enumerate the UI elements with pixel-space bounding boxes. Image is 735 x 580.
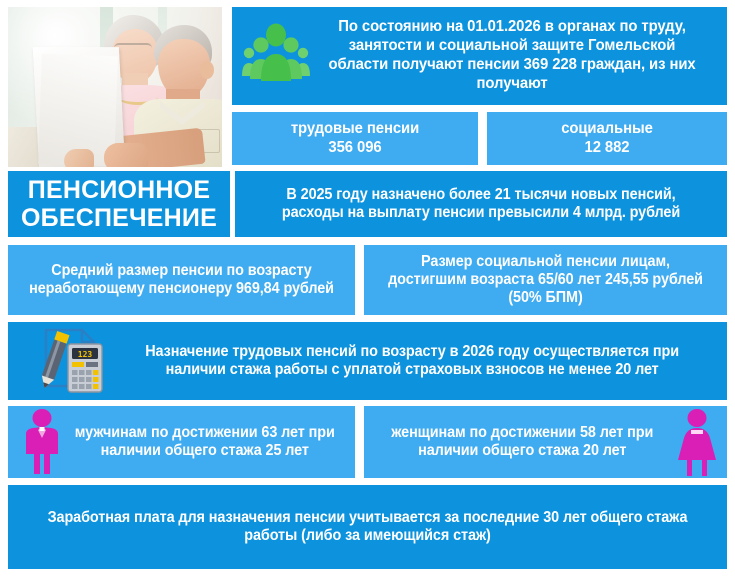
infographic-root: По состоянию на 01.01.2026 в органах по … — [0, 0, 735, 580]
footer-box: Заработная плата для назначения пенсии у… — [8, 485, 727, 569]
group-of-people-icon — [240, 18, 312, 90]
page-title-line-2: ОБЕСПЕЧЕНИЕ — [21, 204, 217, 232]
man-ear — [200, 61, 214, 79]
average-age-pension-box: Средний размер пенсии по возрасту нерабо… — [8, 245, 355, 315]
women-condition-text: женщинам по достижении 58 лет при наличи… — [377, 424, 715, 461]
pension-type-box-social: социальные 12 882 — [487, 112, 727, 165]
page-title-line-1: ПЕНСИОННОЕ — [28, 176, 210, 204]
men-condition-text: мужчинам по достижении 63 лет при наличи… — [20, 424, 343, 461]
calculator-pencil-document-icon: 123 — [32, 326, 118, 398]
footer-text: Заработная плата для назначения пенсии у… — [33, 509, 702, 546]
header-text: По состоянию на 01.01.2026 в органах по … — [249, 18, 709, 94]
man-hand — [104, 143, 148, 167]
social-pension-label: социальные — [561, 120, 653, 137]
page-title: ПЕНСИОННОЕ ОБЕСПЕЧЕНИЕ — [8, 171, 230, 237]
social-pension-content: социальные 12 882 — [495, 120, 718, 158]
woman-glasses — [114, 43, 152, 53]
page-title-content: ПЕНСИОННОЕ ОБЕСПЕЧЕНИЕ — [8, 176, 230, 233]
labour-pension-content: трудовые пенсии 356 096 — [241, 120, 470, 158]
man-figure-icon — [16, 408, 68, 476]
woman-hand — [64, 149, 94, 167]
average-age-pension-text: Средний размер пенсии по возрасту нерабо… — [20, 262, 343, 299]
social-pension-text: Размер социальной пенсии лицам, достигши… — [377, 253, 715, 308]
elderly-couple-photo — [8, 7, 222, 167]
year-stats-box: В 2025 году назначено более 21 тысячи но… — [235, 171, 727, 237]
social-pension-value: 12 882 — [585, 139, 630, 156]
social-pension-box: Размер социальной пенсии лицам, достигши… — [364, 245, 727, 315]
labour-pension-label: трудовые пенсии — [291, 120, 419, 137]
woman-figure-icon — [672, 408, 722, 476]
year-stats-text: В 2025 году назначено более 21 тысячи но… — [252, 186, 710, 223]
svg-text:123: 123 — [78, 350, 93, 359]
requirements-text: Назначение трудовых пенсий по возрасту в… — [33, 343, 702, 380]
labour-pension-value: 356 096 — [328, 139, 381, 156]
pension-type-box-labour: трудовые пенсии 356 096 — [232, 112, 478, 165]
